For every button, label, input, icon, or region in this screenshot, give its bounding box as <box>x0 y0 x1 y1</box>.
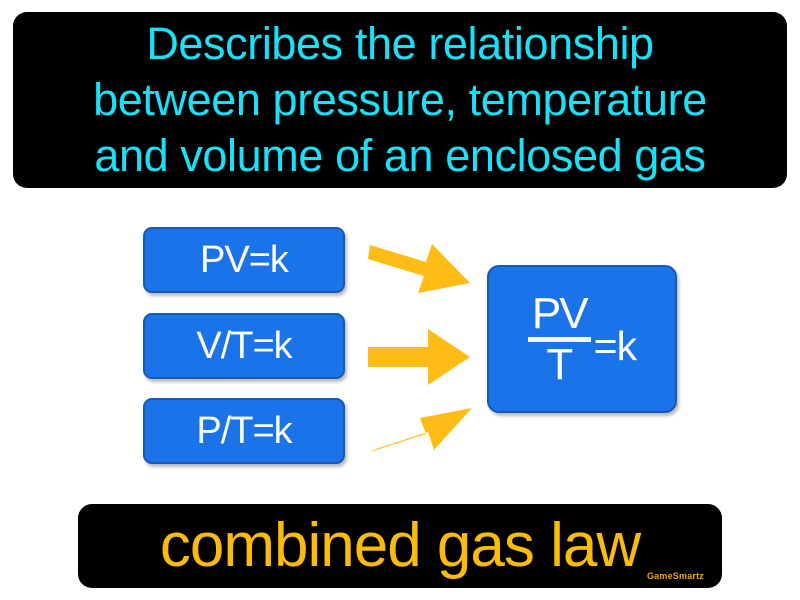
term-banner: combined gas law GameSmartz <box>78 504 722 588</box>
fraction-denominator: T <box>546 342 572 387</box>
law-box-label: V/T=k <box>196 327 291 365</box>
law-box-vt: V/T=k <box>143 313 345 379</box>
law-box-pv: PV=k <box>143 227 345 293</box>
definition-banner: Describes the relationship between press… <box>13 12 787 188</box>
combined-gas-law-formula: PV T =k <box>528 292 636 387</box>
formula-fraction: PV T <box>528 292 591 387</box>
arrow-down-right-icon <box>366 238 478 312</box>
law-box-label: PV=k <box>200 241 288 279</box>
definition-text: Describes the relationship between press… <box>87 16 713 184</box>
gas-laws-diagram: PV=k V/T=k P/T=k PV T =k <box>0 200 800 490</box>
watermark-label: GameSmartz <box>647 571 704 581</box>
term-title: combined gas law <box>160 515 640 577</box>
arrow-up-right-icon <box>366 388 478 462</box>
law-box-pt: P/T=k <box>143 398 345 464</box>
formula-equals-constant: =k <box>591 326 636 367</box>
result-box-combined-law: PV T =k <box>487 265 677 413</box>
fraction-numerator: PV <box>528 292 591 336</box>
law-box-label: P/T=k <box>196 412 291 450</box>
arrow-right-icon <box>366 320 478 394</box>
